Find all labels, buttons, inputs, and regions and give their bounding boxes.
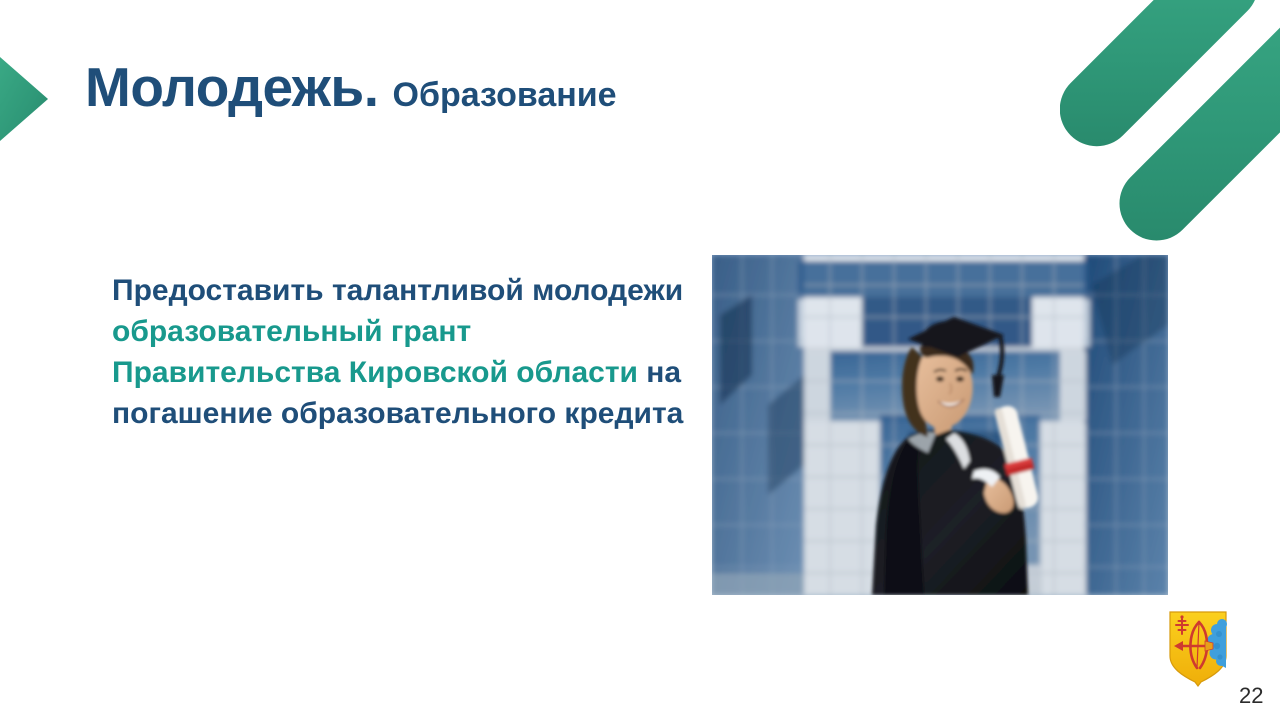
chevron-right-icon xyxy=(0,57,48,141)
body-segment-2-highlight: образовательный грант Правительства Киро… xyxy=(112,315,638,389)
presentation-slide: Молодежь. Образование Предоставить талан… xyxy=(0,0,1280,720)
diagonal-bar-upper-icon xyxy=(1060,0,1274,162)
body-paragraph: Предоставить талантливой молодежи образо… xyxy=(112,270,702,434)
page-title: Молодежь. Образование xyxy=(85,60,617,115)
graduate-photo xyxy=(712,255,1168,595)
page-title-main: Молодежь. xyxy=(85,60,379,115)
decorative-diagonal-bars xyxy=(1060,0,1280,250)
diagonal-bar-lower-icon xyxy=(1104,0,1280,250)
kirov-oblast-coat-of-arms xyxy=(1167,610,1229,688)
page-number: 22 xyxy=(1239,685,1263,707)
body-segment-1: Предоставить талантливой молодежи xyxy=(112,274,683,307)
page-title-sub: Образование xyxy=(393,78,617,112)
